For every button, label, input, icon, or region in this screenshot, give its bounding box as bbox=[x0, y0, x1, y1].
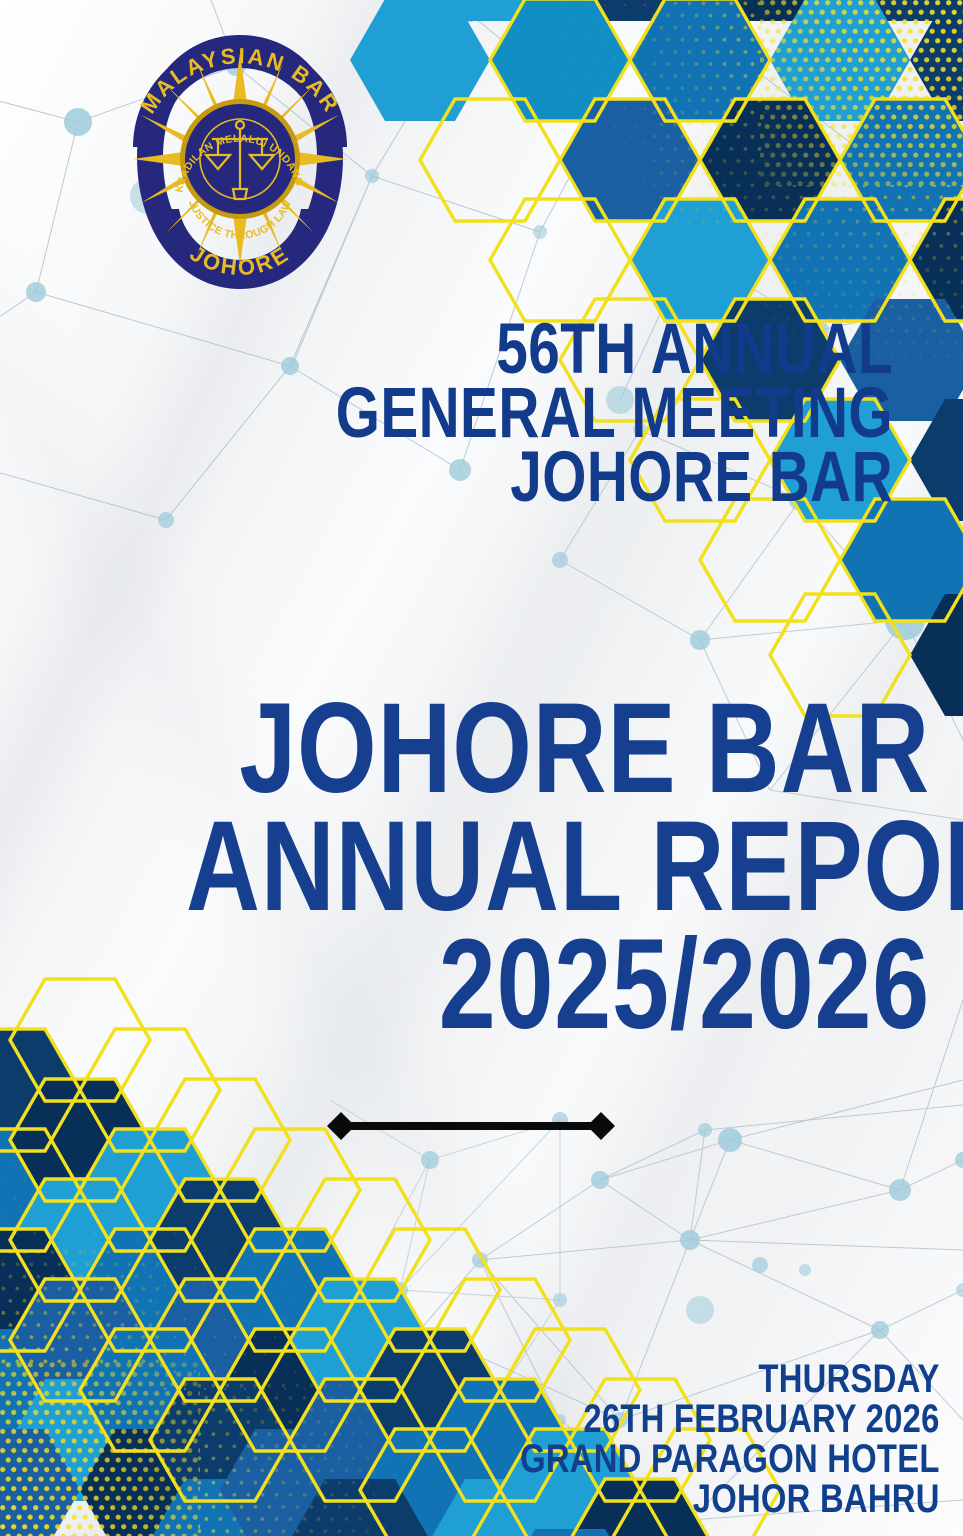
event-city: JOHOR BAHRU bbox=[520, 1479, 940, 1519]
johore-bar-crest-logo: MALAYSIAN BAR JOHORE KEADILAN MELALUI UN… bbox=[119, 17, 361, 309]
title-line-3: 2025/2026 bbox=[186, 926, 930, 1044]
divider-diamond-right bbox=[587, 1112, 615, 1140]
diamond-rule-svg bbox=[322, 1107, 620, 1145]
headline-line-2: GENERAL MEETING bbox=[179, 382, 893, 446]
title-line-1: JOHORE BAR bbox=[186, 690, 930, 808]
event-day: THURSDAY bbox=[520, 1359, 940, 1399]
event-venue: GRAND PARAGON HOTEL bbox=[520, 1439, 940, 1479]
event-headline: 56TH ANNUAL GENERAL MEETING JOHORE BAR bbox=[0, 318, 893, 510]
crest-svg: MALAYSIAN BAR JOHORE KEADILAN MELALUI UN… bbox=[119, 17, 361, 309]
page-title: JOHORE BAR ANNUAL REPORT 2025/2026 bbox=[0, 690, 930, 1043]
report-cover-page: MALAYSIAN BAR JOHORE KEADILAN MELALUI UN… bbox=[0, 0, 963, 1536]
event-details: THURSDAY 26TH FEBRUARY 2026 GRAND PARAGO… bbox=[428, 1359, 940, 1519]
divider-diamond-left bbox=[327, 1112, 355, 1140]
headline-line-1: 56TH ANNUAL bbox=[179, 318, 893, 382]
headline-line-3: JOHORE BAR bbox=[179, 446, 893, 510]
divider-line bbox=[340, 1122, 602, 1130]
event-date: 26TH FEBRUARY 2026 bbox=[520, 1399, 940, 1439]
diamond-rule-divider bbox=[322, 1107, 620, 1145]
title-line-2: ANNUAL REPORT bbox=[186, 808, 930, 926]
